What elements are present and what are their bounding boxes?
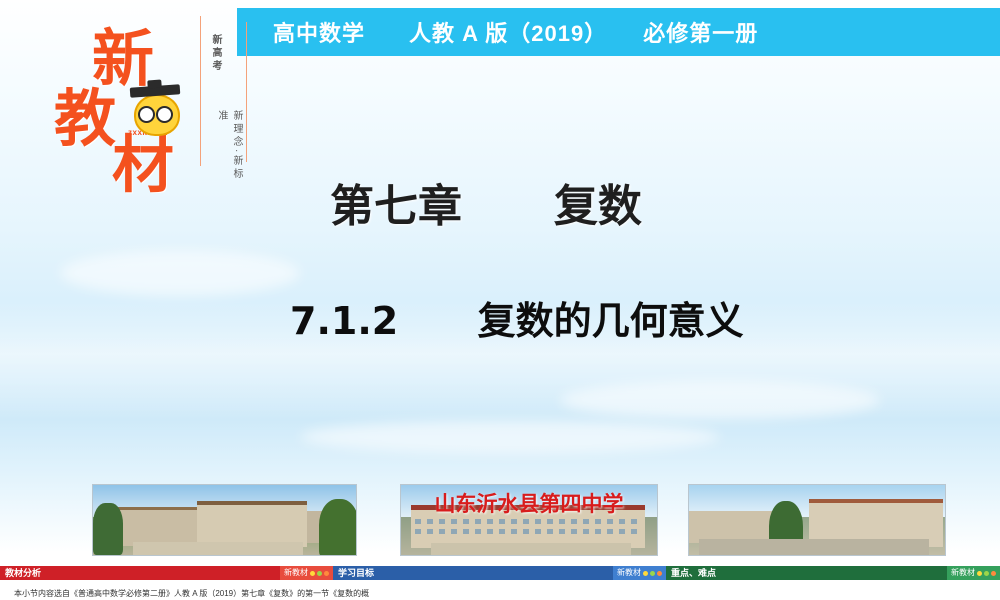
bottom-segment-analysis[interactable]: 教材分析 新教材 [0,566,333,580]
photo-tree [319,499,357,556]
bottom-label-analysis: 教材分析 [0,566,46,580]
slide-canvas: 高中数学 人教 A 版（2019） 必修第一册 新 教 材 zxxk.com 新… [0,0,1000,600]
cloud-decor-3 [300,420,720,454]
logo-side-top-text: 新高考 [208,34,223,73]
mascot-eye-right [156,106,173,123]
bottom-right-badge-1: 新教材 [280,566,333,580]
bottom-label-objectives: 学习目标 [333,566,379,580]
photo-building [197,501,307,547]
photo-plaza [431,543,631,555]
header-subject: 高中数学 [273,16,365,48]
photo-plaza [133,542,303,555]
dot-orange-icon [991,571,996,576]
badge-text: 新教材 [617,566,641,580]
logo-side-sub-text: 新理念·新标准 [214,110,244,186]
graduation-cap-icon [130,84,181,97]
campus-photo-right [688,484,946,556]
dot-yellow-icon [643,571,648,576]
dot-green-icon [650,571,655,576]
header-edition: 人教 A 版（2019） [409,16,607,48]
owl-mascot-icon [128,84,182,138]
bottom-right-badge-3: 新教材 [947,566,1000,580]
mascot-eye-left [138,106,155,123]
logo-divider-1 [200,16,201,166]
footnote-text: 本小节内容选自《普通高中数学必修第二册》人教 A 版（2019）第七章《复数》的… [14,588,369,599]
bottom-segment-objectives[interactable]: 学习目标 新教材 [333,566,666,580]
dot-green-icon [984,571,989,576]
header-bar: 高中数学 人教 A 版（2019） 必修第一册 [237,8,1000,56]
school-name-text: 山东沂水县第四中学 [400,488,658,518]
bottom-segment-keypoints[interactable]: 重点、难点 新教材 [666,566,1000,580]
photo-building-windows [415,519,641,524]
bottom-label-keypoints: 重点、难点 [666,566,721,580]
brand-logo: 新 教 材 zxxk.com 新高考 新理念·新标准 [32,6,237,186]
badge-text: 新教材 [951,566,975,580]
photo-road [699,539,929,555]
dot-orange-icon [657,571,662,576]
chapter-title: 第七章 复数 [330,170,642,234]
badge-text: 新教材 [284,566,308,580]
dot-yellow-icon [310,571,315,576]
dot-orange-icon [324,571,329,576]
bottom-right-badge-2: 新教材 [613,566,666,580]
section-title: 7.1.2 复数的几何意义 [290,290,744,345]
photo-tree [93,503,123,555]
photo-building-windows [415,529,641,534]
logo-divider-2 [246,22,247,162]
header-volume: 必修第一册 [643,16,758,48]
logo-char-jiao: 教 [54,68,116,158]
cloud-decor-2 [560,380,880,420]
campus-photo-left [92,484,357,556]
cloud-decor-1 [60,250,300,296]
dot-green-icon [317,571,322,576]
dot-yellow-icon [977,571,982,576]
photo-building [111,507,197,546]
